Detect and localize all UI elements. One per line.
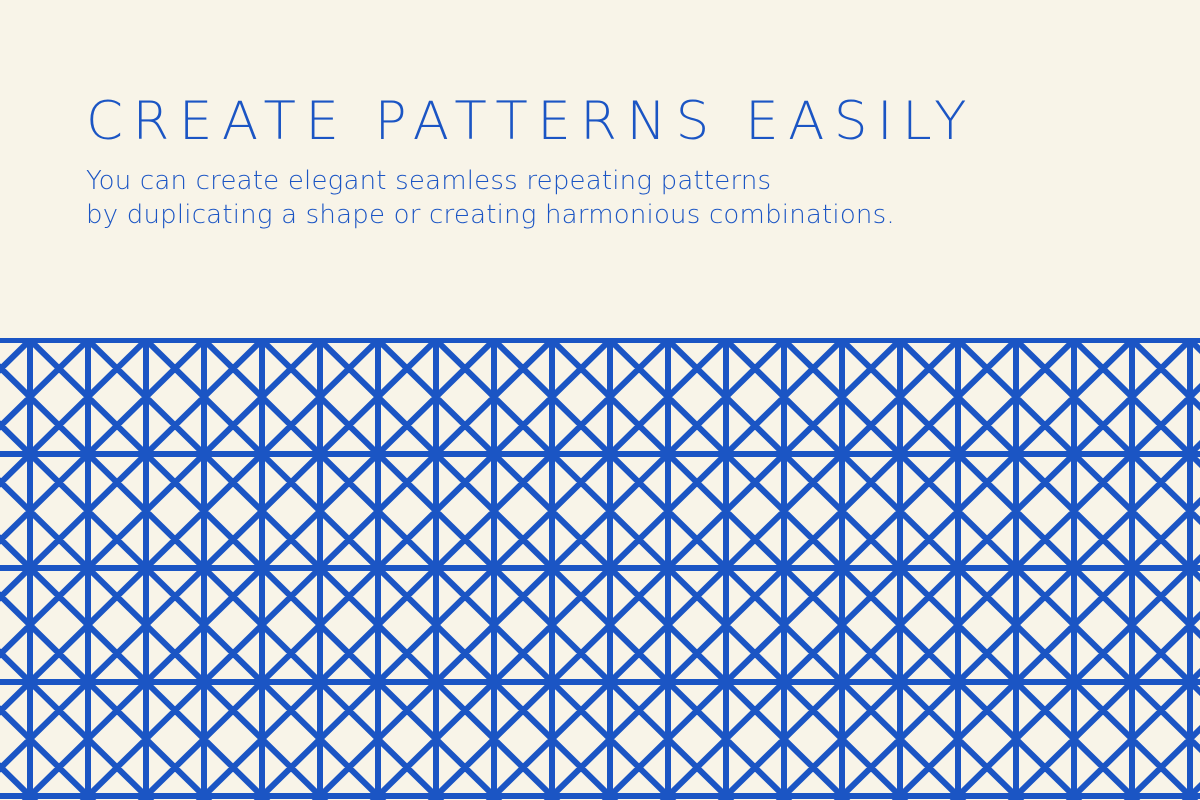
page-title: CREATE PATTERNS EASILY: [86, 92, 1106, 152]
subtitle-line-2: by duplicating a shape or creating harmo…: [86, 198, 1106, 232]
page-subtitle: You can create elegant seamless repeatin…: [86, 152, 1106, 232]
seamless-pattern-graphic: [0, 338, 1200, 800]
header-block: CREATE PATTERNS EASILY You can create el…: [86, 92, 1106, 232]
pattern-band: [0, 338, 1200, 800]
poster-canvas: CREATE PATTERNS EASILY You can create el…: [0, 0, 1200, 800]
subtitle-line-1: You can create elegant seamless repeatin…: [86, 164, 1106, 198]
